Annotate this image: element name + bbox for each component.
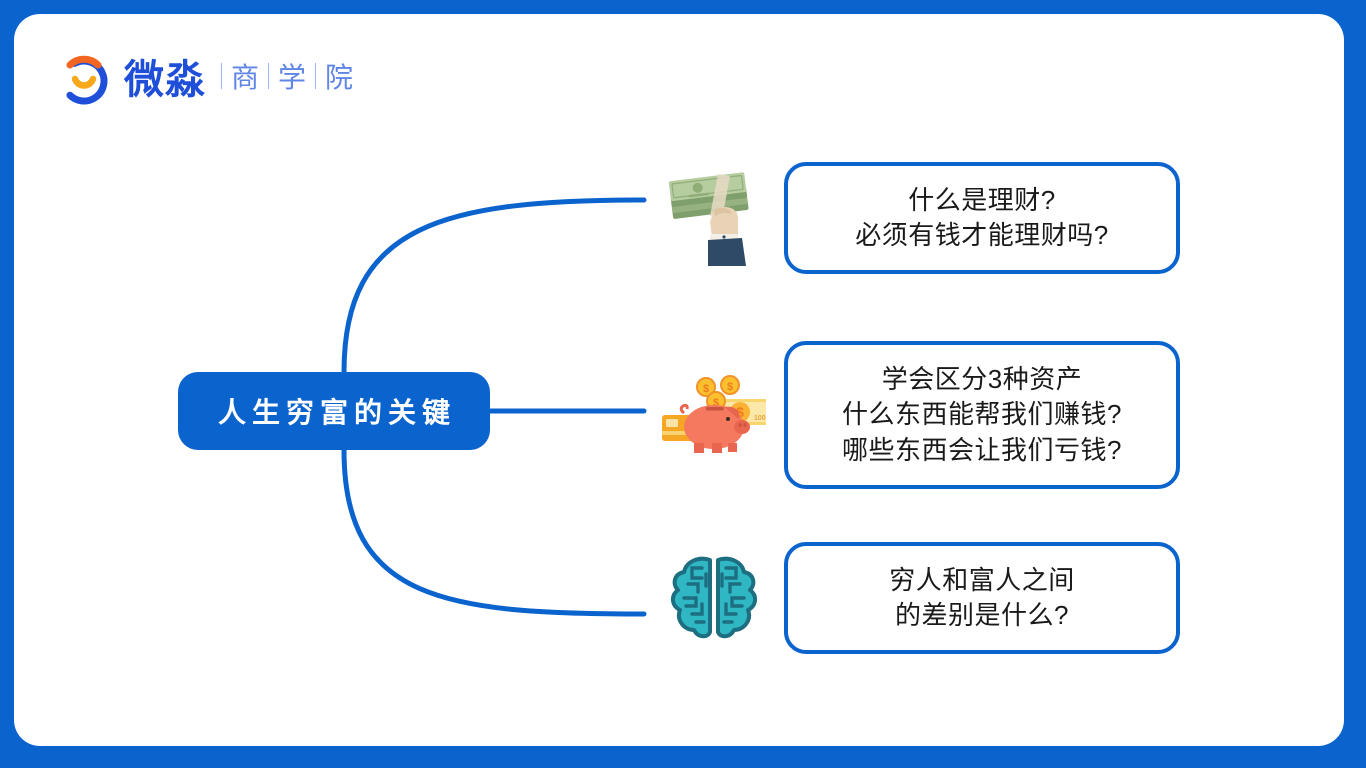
branch-2-line-2: 什么东西能帮我们赚钱?	[842, 397, 1122, 432]
central-node-label: 人生穷富的关键	[212, 391, 456, 431]
cash-in-hand-icon	[662, 166, 766, 270]
brain-icon	[662, 546, 766, 650]
svg-text:100: 100	[754, 415, 766, 422]
slide-root: 微淼 商 学 院	[0, 0, 1366, 768]
branch-3-line-2: 的差别是什么?	[895, 598, 1069, 633]
mindmap: 人生穷富的关键	[14, 14, 1344, 746]
branch-2-line-1: 学会区分3种资产	[882, 362, 1082, 397]
branch-2-line-3: 哪些东西会让我们亏钱?	[842, 433, 1122, 468]
connector-branch-1	[344, 200, 644, 372]
slide-canvas: 微淼 商 学 院	[14, 14, 1344, 746]
connector-branch-3	[344, 450, 644, 614]
branch-3: 穷人和富人之间 的差别是什么?	[662, 542, 1180, 654]
branch-1-line-1: 什么是理财?	[908, 183, 1055, 218]
branch-2: 100 $ $	[662, 341, 1180, 489]
svg-text:$: $	[703, 383, 709, 395]
branch-3-box[interactable]: 穷人和富人之间 的差别是什么?	[784, 542, 1180, 654]
branch-2-box[interactable]: 学会区分3种资产 什么东西能帮我们赚钱? 哪些东西会让我们亏钱?	[784, 341, 1180, 489]
branch-1: 什么是理财? 必须有钱才能理财吗?	[662, 162, 1180, 274]
branch-3-line-1: 穷人和富人之间	[889, 563, 1075, 598]
branch-1-box[interactable]: 什么是理财? 必须有钱才能理财吗?	[784, 162, 1180, 274]
branch-1-line-2: 必须有钱才能理财吗?	[855, 218, 1108, 253]
svg-text:$: $	[727, 381, 733, 393]
central-node[interactable]: 人生穷富的关键	[178, 372, 490, 450]
piggy-bank-icon: 100 $ $	[662, 363, 766, 467]
